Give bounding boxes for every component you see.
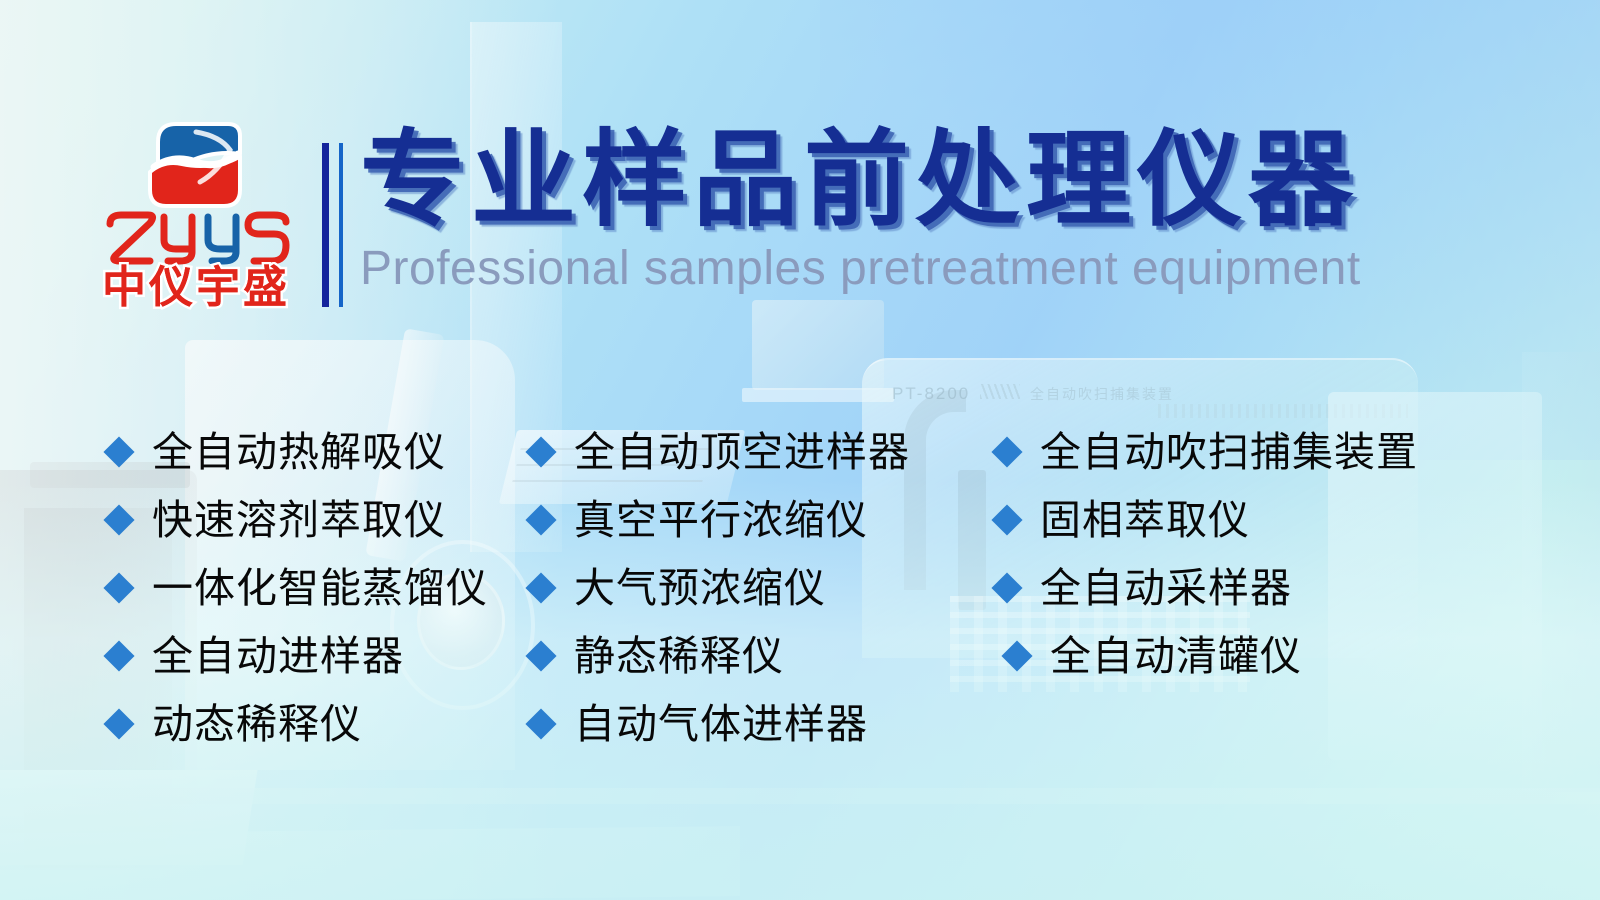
product-label: 大气预浓缩仪 [574, 568, 826, 609]
background-equipment-vent [1158, 404, 1408, 418]
product-label: 固相萃取仪 [1040, 500, 1250, 541]
list-item[interactable]: 快速溶剂萃取仪 [108, 486, 528, 554]
list-item[interactable]: 全自动顶空进样器 [530, 418, 970, 486]
promotional-banner: PT-8200 全自动吹扫捕集装置 [0, 0, 1600, 900]
product-label: 自动气体进样器 [574, 704, 868, 745]
list-item[interactable]: 一体化智能蒸馏仪 [108, 554, 528, 622]
product-label: 全自动清罐仪 [1050, 636, 1302, 677]
diamond-bullet-icon [1001, 640, 1032, 671]
title-block: 专业样品前处理仪器 Professional samples pretreatm… [360, 128, 1361, 296]
background-equipment-slash-decor [980, 384, 1020, 399]
product-label: 一体化智能蒸馏仪 [152, 568, 488, 609]
diamond-bullet-icon [991, 436, 1022, 467]
company-name-chinese-logo: 中仪宇盛 中仪宇盛 [98, 262, 294, 314]
diamond-bullet-icon [103, 436, 134, 467]
banner-header: 中仪宇盛 中仪宇盛 专业样品前处理仪器 Professional samples… [0, 0, 1600, 330]
divider-bar-thin [339, 143, 343, 307]
diamond-bullet-icon [103, 572, 134, 603]
divider-bar-thick [322, 143, 329, 307]
product-column-3: 全自动吹扫捕集装置 固相萃取仪 全自动采样器 全自动清罐仪 [996, 418, 1466, 690]
diamond-bullet-icon [991, 504, 1022, 535]
product-label: 全自动进样器 [152, 636, 404, 677]
company-logo[interactable]: 中仪宇盛 中仪宇盛 [96, 120, 296, 310]
diamond-bullet-icon [103, 504, 134, 535]
background-bench-surface [0, 826, 740, 900]
list-item[interactable]: 固相萃取仪 [996, 486, 1466, 554]
product-label: 真空平行浓缩仪 [574, 500, 868, 541]
diamond-bullet-icon [525, 504, 556, 535]
list-item[interactable]: 大气预浓缩仪 [530, 554, 970, 622]
background-control-box-base [742, 388, 894, 402]
list-item[interactable]: 全自动采样器 [996, 554, 1466, 622]
background-bench-edge [0, 788, 1600, 804]
product-column-2: 全自动顶空进样器 真空平行浓缩仪 大气预浓缩仪 静态稀释仪 自动气体进样器 [530, 418, 970, 758]
product-column-1: 全自动热解吸仪 快速溶剂萃取仪 一体化智能蒸馏仪 全自动进样器 动态稀释仪 [108, 418, 528, 758]
background-equipment-model-label: PT-8200 [892, 384, 970, 404]
list-item[interactable]: 全自动吹扫捕集装置 [996, 418, 1466, 486]
product-list: 全自动热解吸仪 快速溶剂萃取仪 一体化智能蒸馏仪 全自动进样器 动态稀释仪 [0, 418, 1600, 788]
list-item[interactable]: 自动气体进样器 [530, 690, 970, 758]
product-label: 全自动热解吸仪 [152, 432, 446, 473]
diamond-bullet-icon [525, 708, 556, 739]
page-subtitle: Professional samples pretreatment equipm… [360, 241, 1361, 296]
diamond-bullet-icon [525, 436, 556, 467]
product-label: 全自动顶空进样器 [574, 432, 910, 473]
product-label: 全自动吹扫捕集装置 [1040, 432, 1418, 473]
page-title: 专业样品前处理仪器 [360, 128, 1361, 233]
list-item[interactable]: 动态稀释仪 [108, 690, 528, 758]
list-item[interactable]: 全自动进样器 [108, 622, 528, 690]
svg-text:中仪宇盛: 中仪宇盛 [102, 262, 290, 313]
product-label: 全自动采样器 [1040, 568, 1292, 609]
diamond-bullet-icon [103, 640, 134, 671]
diamond-bullet-icon [525, 640, 556, 671]
diamond-bullet-icon [991, 572, 1022, 603]
list-item[interactable]: 静态稀释仪 [530, 622, 970, 690]
product-label: 快速溶剂萃取仪 [152, 500, 446, 541]
zyys-lettermark [96, 208, 296, 266]
list-item[interactable]: 全自动热解吸仪 [108, 418, 528, 486]
diamond-bullet-icon [525, 572, 556, 603]
list-item[interactable]: 真空平行浓缩仪 [530, 486, 970, 554]
zyys-wave-mark-icon [144, 120, 246, 212]
product-label: 动态稀释仪 [152, 704, 362, 745]
list-item[interactable]: 全自动清罐仪 [996, 622, 1466, 690]
background-equipment-name-label: 全自动吹扫捕集装置 [1030, 384, 1174, 404]
diamond-bullet-icon [103, 708, 134, 739]
product-label: 静态稀释仪 [574, 636, 784, 677]
